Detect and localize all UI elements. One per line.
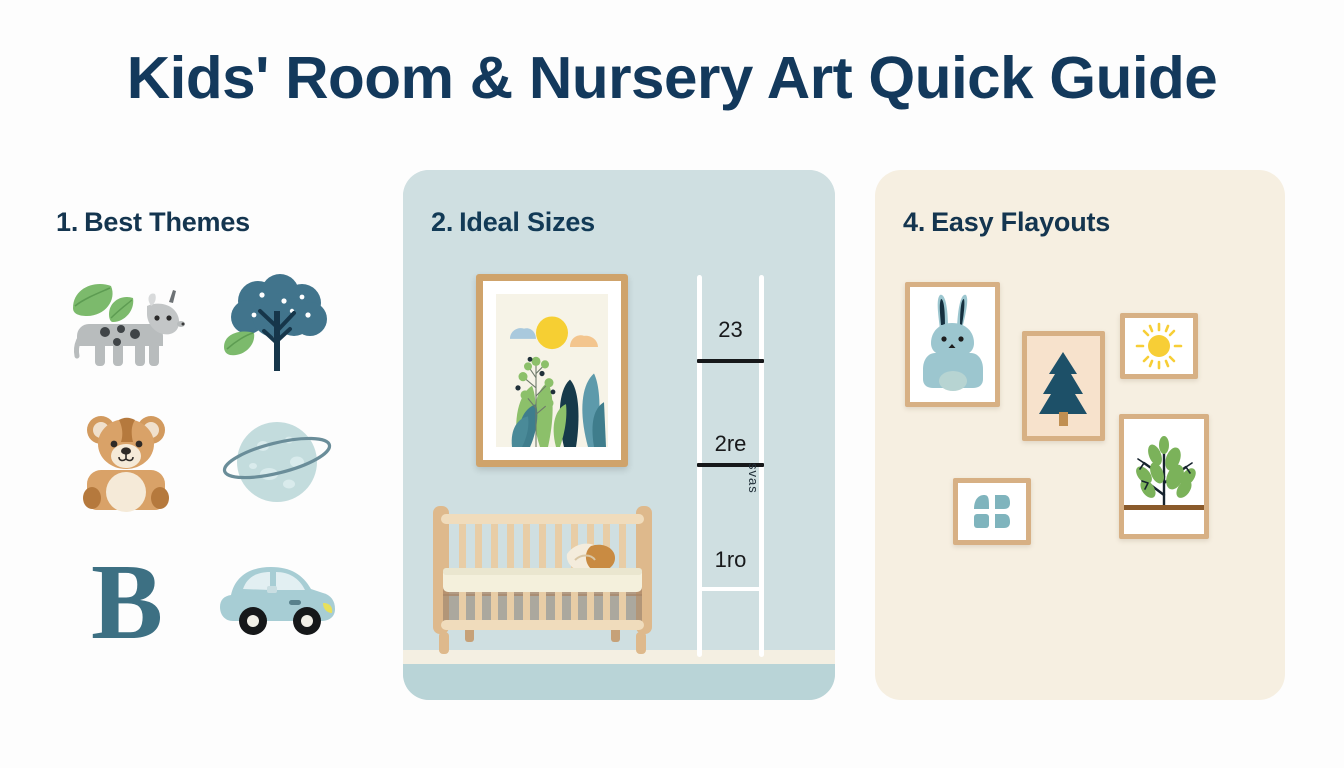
panel-number-1: 1. — [56, 207, 78, 237]
frame-sun[interactable] — [1120, 313, 1198, 379]
infographic-page: Kids' Room & Nursery Art Quick Guide 1.B… — [0, 0, 1344, 768]
panel-best-themes: 1.Best Themes — [30, 170, 370, 700]
frame-plant[interactable] — [1119, 414, 1209, 539]
teddy-bear-icon — [79, 408, 175, 514]
theme-cell-1[interactable] — [61, 262, 193, 386]
letter-b-icon: B — [81, 544, 173, 652]
theme-cell-5[interactable]: B — [61, 536, 193, 660]
svg-text:B: B — [91, 544, 163, 652]
panel-label-4: Easy Flayouts — [931, 207, 1110, 237]
frame-abstract[interactable] — [953, 478, 1031, 545]
leafy-branch-art-icon — [1124, 419, 1204, 534]
wooden-crib-icon — [425, 498, 660, 656]
botanical-sun-print — [496, 294, 608, 447]
wall-art-mat — [483, 281, 621, 460]
scale-label-2: 1ro — [697, 547, 764, 573]
pine-tree-art-icon — [1027, 336, 1100, 436]
page-title: Kids' Room & Nursery Art Quick Guide — [0, 46, 1344, 110]
theme-cell-2[interactable] — [211, 262, 343, 386]
panel-number-4: 4. — [903, 207, 925, 237]
scale-label-0: 23 — [697, 317, 764, 343]
toy-car-icon — [215, 555, 339, 641]
frame-bunny-mat — [910, 287, 995, 402]
blue-tree-icon — [218, 271, 336, 377]
theme-cell-3[interactable] — [61, 399, 193, 523]
crib-illustration — [425, 498, 660, 656]
theme-cell-6[interactable] — [211, 536, 343, 660]
frame-tree-mat — [1027, 336, 1100, 436]
frame-sun-mat — [1125, 318, 1193, 374]
scale-vertical-label: svas — [746, 463, 761, 494]
measuring-scale: 23 2re 1ro svas — [691, 275, 781, 657]
panel-number-2: 2. — [431, 207, 453, 237]
panel-ideal-sizes: 23 2re 1ro svas 2.Ideal Sizes — [403, 170, 835, 700]
panel-label-1: Best Themes — [84, 207, 250, 237]
sun-art-icon — [1125, 318, 1193, 374]
panel-label-2: Ideal Sizes — [459, 207, 595, 237]
theme-icon-grid: B — [52, 256, 352, 666]
planet-icon — [219, 410, 335, 512]
theme-cell-4[interactable] — [211, 399, 343, 523]
frame-pine-tree[interactable] — [1022, 331, 1105, 441]
panel-heading-layouts: 4.Easy Flayouts — [903, 207, 1110, 238]
panel-heading-sizes: 2.Ideal Sizes — [431, 207, 595, 238]
wall-art-print — [496, 294, 608, 447]
scale-label-1: 2re — [697, 431, 764, 457]
panel-heading-themes: 1.Best Themes — [56, 207, 250, 238]
bunny-art-icon — [910, 287, 995, 402]
gallery-wall — [875, 256, 1285, 700]
wall-art-frame[interactable] — [476, 274, 628, 467]
scale-rung-0 — [697, 359, 764, 363]
nursery-room-illustration: 23 2re 1ro svas — [403, 170, 835, 700]
frame-bunny[interactable] — [905, 282, 1000, 407]
room-floor — [403, 664, 835, 700]
frame-abstract-mat — [958, 483, 1026, 540]
scale-rung-2 — [697, 587, 764, 591]
panel-easy-layouts: 4.Easy Flayouts — [875, 170, 1285, 700]
spotted-deer-icon — [65, 272, 189, 376]
frame-plant-mat — [1124, 419, 1204, 534]
abstract-shapes-art-icon — [958, 483, 1026, 540]
